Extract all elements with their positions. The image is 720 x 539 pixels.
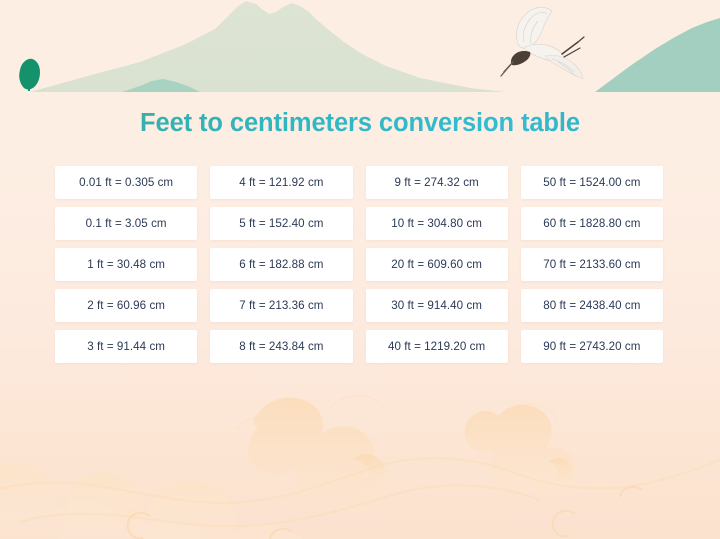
table-row: 1 ft = 30.48 cm 6 ft = 182.88 cm 20 ft =… [55, 248, 663, 281]
scenery-band [0, 0, 720, 92]
table-cell: 20 ft = 609.60 cm [366, 248, 508, 281]
table-cell: 7 ft = 213.36 cm [210, 289, 352, 322]
table-cell: 10 ft = 304.80 cm [366, 207, 508, 240]
table-cell: 5 ft = 152.40 cm [210, 207, 352, 240]
table-cell: 40 ft = 1219.20 cm [366, 330, 508, 363]
table-cell: 90 ft = 2743.20 cm [521, 330, 663, 363]
table-cell: 6 ft = 182.88 cm [210, 248, 352, 281]
crane-icon [501, 7, 584, 79]
table-cell: 8 ft = 243.84 cm [210, 330, 352, 363]
table-cell: 80 ft = 2438.40 cm [521, 289, 663, 322]
table-row: 3 ft = 91.44 cm 8 ft = 243.84 cm 40 ft =… [55, 330, 663, 363]
page-title: Feet to centimeters conversion table [0, 109, 720, 138]
table-cell: 0.1 ft = 3.05 cm [55, 207, 197, 240]
slide-canvas: Feet to centimeters conversion table 0.0… [0, 0, 720, 539]
table-cell: 50 ft = 1524.00 cm [521, 166, 663, 199]
table-cell: 0.01 ft = 0.305 cm [55, 166, 197, 199]
mountain-icon [30, 1, 505, 92]
table-cell: 60 ft = 1828.80 cm [521, 207, 663, 240]
table-row: 2 ft = 60.96 cm 7 ft = 213.36 cm 30 ft =… [55, 289, 663, 322]
table-cell: 70 ft = 2133.60 cm [521, 248, 663, 281]
table-row: 0.01 ft = 0.305 cm 4 ft = 121.92 cm 9 ft… [55, 166, 663, 199]
table-cell: 4 ft = 121.92 cm [210, 166, 352, 199]
table-cell: 1 ft = 30.48 cm [55, 248, 197, 281]
tree-trunk-icon [28, 84, 30, 91]
table-cell: 2 ft = 60.96 cm [55, 289, 197, 322]
table-cell: 30 ft = 914.40 cm [366, 289, 508, 322]
conversion-table: 0.01 ft = 0.305 cm 4 ft = 121.92 cm 9 ft… [55, 166, 663, 363]
table-row: 0.1 ft = 3.05 cm 5 ft = 152.40 cm 10 ft … [55, 207, 663, 240]
hill-right-icon [595, 18, 720, 92]
table-cell: 3 ft = 91.44 cm [55, 330, 197, 363]
table-cell: 9 ft = 274.32 cm [366, 166, 508, 199]
